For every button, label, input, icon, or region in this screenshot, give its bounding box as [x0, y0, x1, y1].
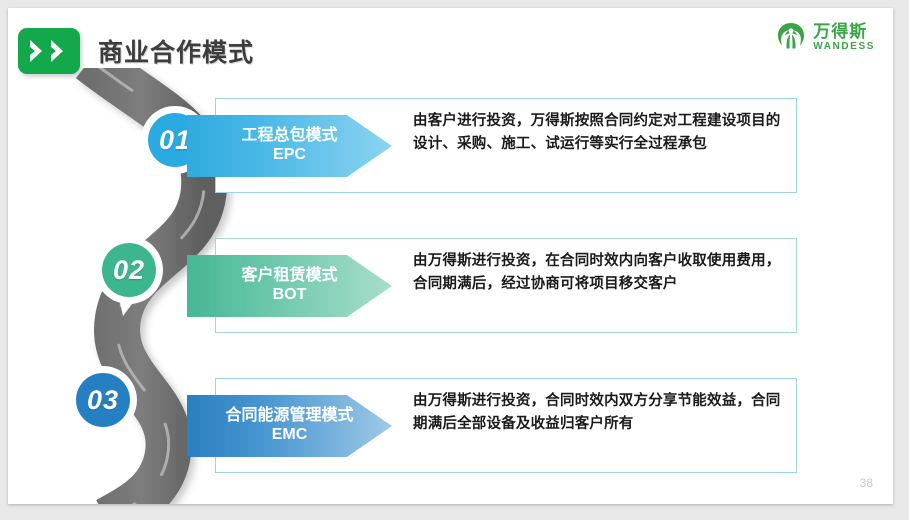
mode-description-03: 由万得斯进行投资，合同时效内双方分享节能效益，合同期满后全部设备及收益归客户所有 — [413, 390, 781, 436]
mode-banner-title-01: 工程总包模式 — [241, 127, 337, 146]
mode-banner-abbr-03: EMC — [272, 426, 308, 445]
brand-logo: 万得斯 WANDESS — [774, 20, 875, 54]
mode-banner-abbr-02: BOT — [273, 286, 307, 305]
step-pin-03[interactable]: 03 — [67, 364, 139, 448]
pin-shape-icon — [93, 234, 165, 318]
sprout-leaf-icon — [774, 20, 808, 54]
pin-shape-icon — [67, 364, 139, 448]
mode-banner-title-03: 合同能源管理模式 — [225, 407, 353, 426]
slide-canvas: 商业合作模式 万得斯 WANDESS — [8, 8, 893, 504]
double-chevron-right-icon — [29, 38, 70, 64]
logo-name-en: WANDESS — [813, 42, 875, 52]
step-pin-02[interactable]: 02 — [93, 234, 165, 318]
mode-description-01: 由客户进行投资，万得斯按照合同约定对工程建设项目的设计、采购、施工、试运行等实行… — [413, 110, 781, 156]
page-title: 商业合作模式 — [98, 33, 254, 69]
logo-text-block: 万得斯 WANDESS — [813, 23, 875, 52]
page-number: 38 — [860, 476, 873, 490]
mode-banner-title-02: 客户租赁模式 — [241, 267, 337, 286]
logo-name-cn: 万得斯 — [813, 23, 875, 40]
mode-description-02: 由万得斯进行投资，在合同时效内向客户收取使用费用，合同期满后，经过协商可将项目移… — [413, 250, 781, 296]
mode-banner-abbr-01: EPC — [273, 146, 306, 165]
